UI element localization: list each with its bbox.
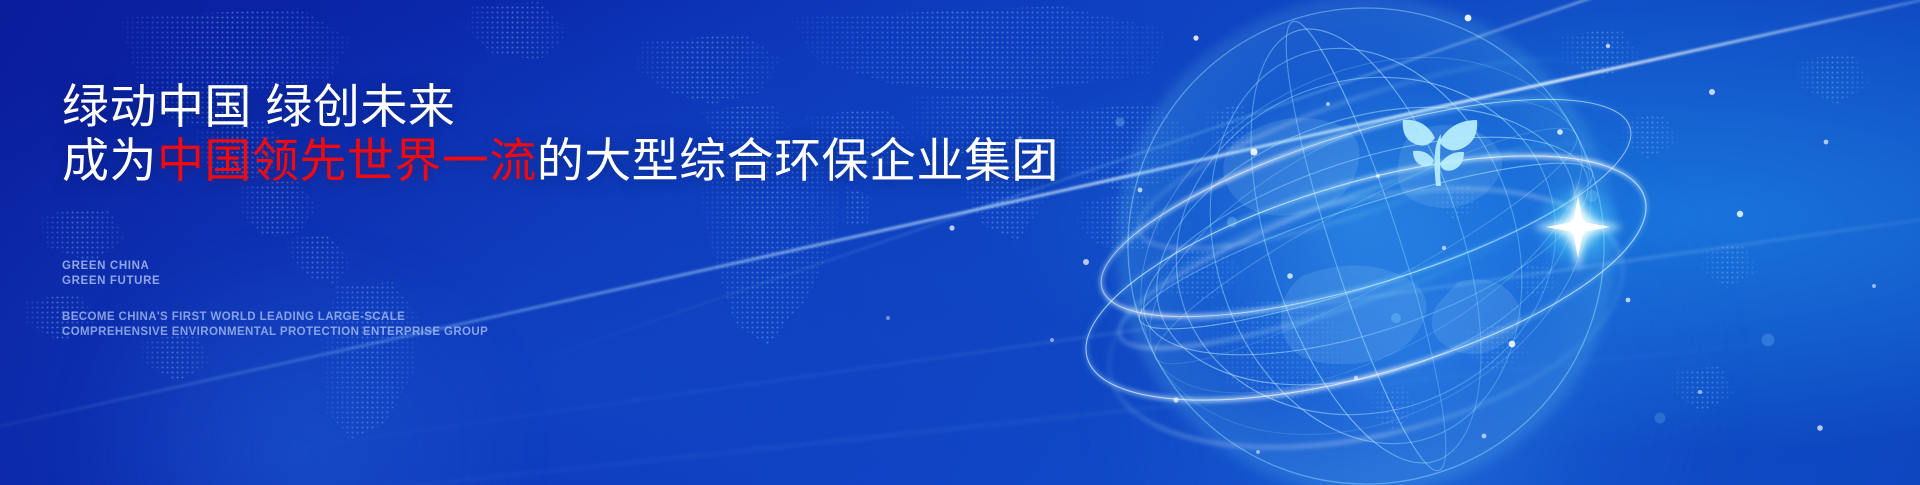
headline-line-2-prefix: 成为	[62, 134, 157, 187]
headline-line-2: 成为中国领先世界一流的大型综合环保企业集团	[62, 132, 1059, 190]
english-subtitle: GREEN CHINA GREEN FUTURE	[62, 259, 160, 289]
headline-highlight: 中国领先世界一流	[157, 134, 537, 187]
banner-copy: 绿动中国 绿创未来 成为中国领先世界一流的大型综合环保企业集团 GREEN CH…	[0, 0, 1060, 485]
headline-line-1-text: 绿动中国 绿创未来	[62, 80, 455, 133]
english-subtitle-line-1: GREEN CHINA	[62, 259, 160, 274]
english-tagline-line-1: BECOME CHINA'S FIRST WORLD LEADING LARGE…	[62, 310, 488, 325]
english-tagline-line-2: COMPREHENSIVE ENVIRONMENTAL PROTECTION E…	[62, 325, 488, 340]
headline-line-1: 绿动中国 绿创未来	[62, 78, 455, 136]
headline-line-2-suffix: 的大型综合环保企业集团	[537, 134, 1059, 187]
english-subtitle-line-2: GREEN FUTURE	[62, 274, 160, 289]
hero-banner: 绿动中国 绿创未来 成为中国领先世界一流的大型综合环保企业集团 GREEN CH…	[0, 0, 1920, 485]
english-tagline: BECOME CHINA'S FIRST WORLD LEADING LARGE…	[62, 310, 488, 339]
